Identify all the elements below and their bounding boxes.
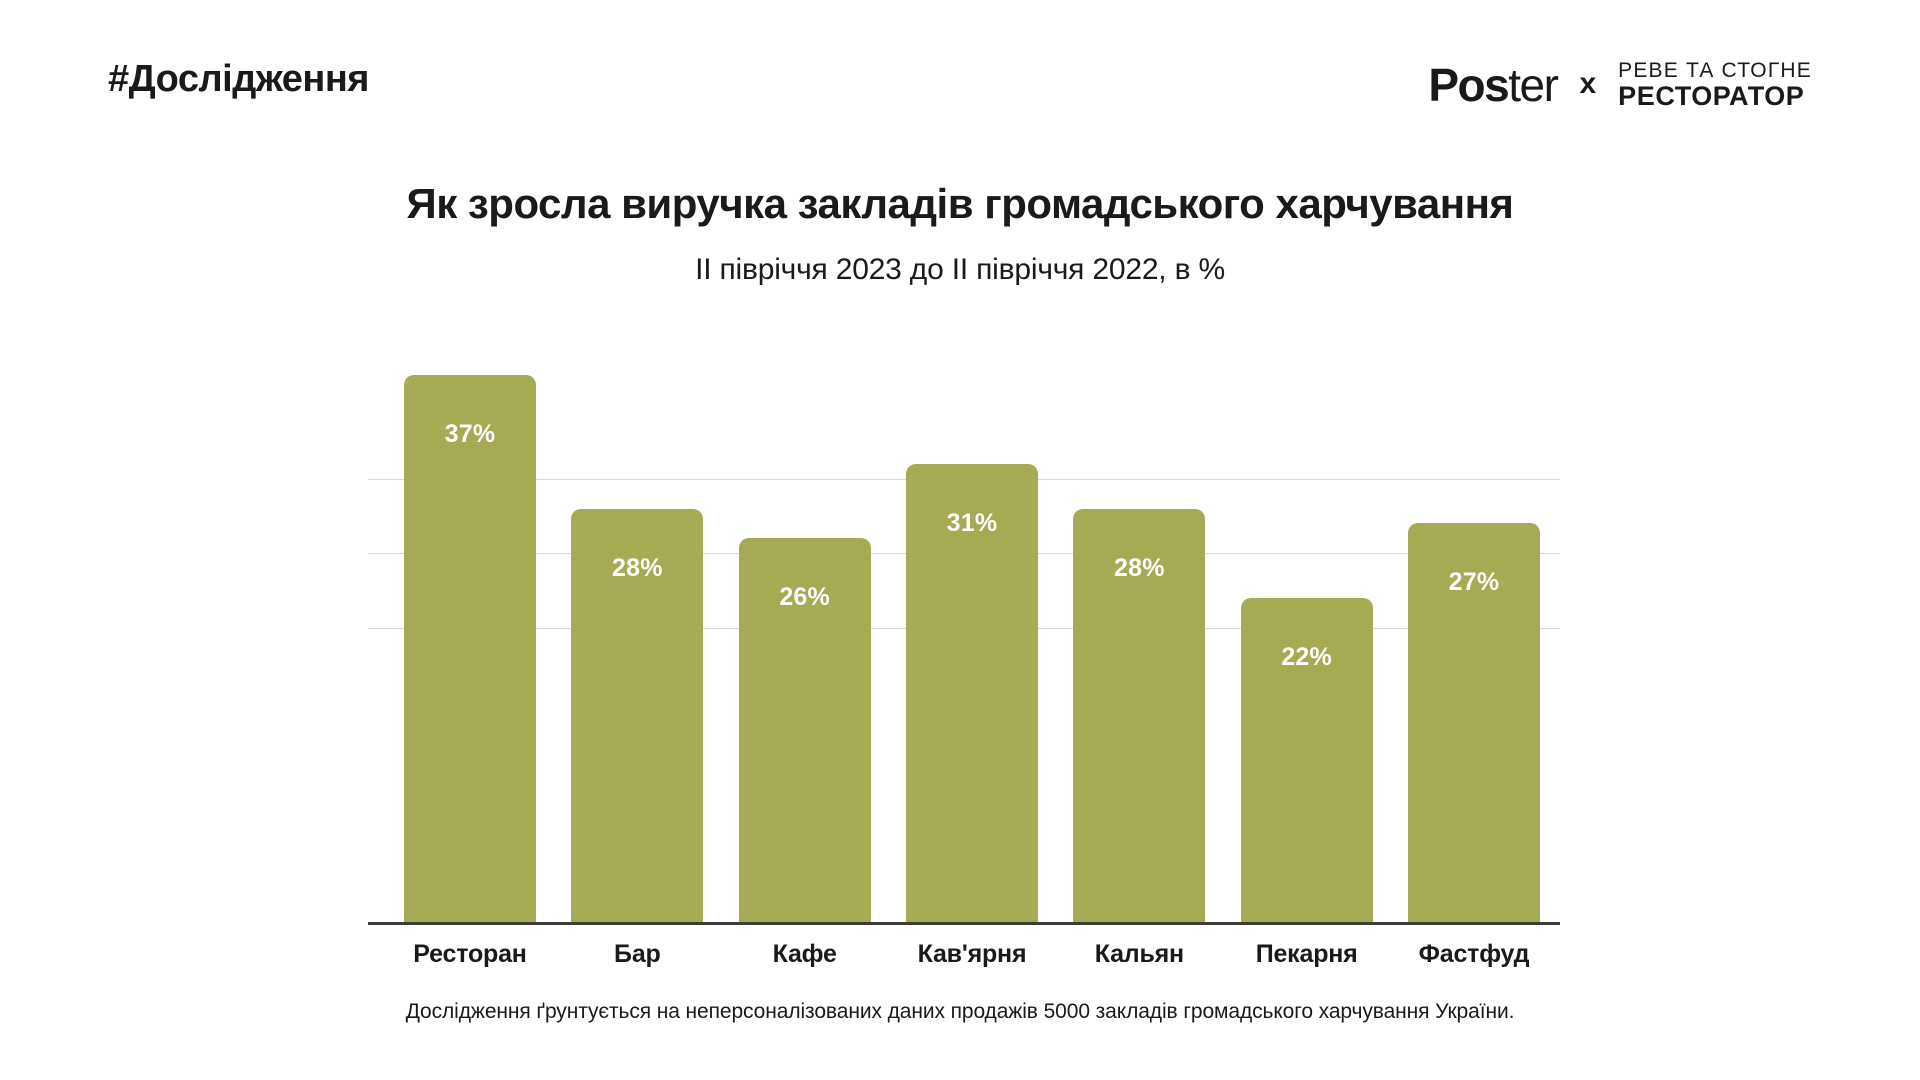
bar-value-label: 22% [1241, 643, 1373, 672]
bar-slot: 28% [571, 330, 703, 925]
category-label: Кальян [1073, 940, 1205, 969]
poster-logo: Poster [1428, 62, 1557, 108]
bar-chart: 37%28%26%31%28%22%27% [368, 330, 1560, 925]
category-label: Кафе [739, 940, 871, 969]
poster-logo-bold: Pos [1428, 59, 1508, 111]
bar-slot: 28% [1073, 330, 1205, 925]
category-label: Фастфуд [1408, 940, 1540, 969]
category-label: Бар [571, 940, 703, 969]
hashtag-label: #Дослідження [108, 58, 369, 101]
partner-logo-line2: РЕСТОРАТОР [1618, 82, 1812, 110]
poster-logo-light: ter [1508, 59, 1557, 111]
methodology-footnote: Дослідження ґрунтується на неперсоналізо… [0, 1000, 1920, 1024]
brand-lockup: Poster x РЕВЕ ТА СТОГНЕ РЕСТОРАТОР [1428, 60, 1812, 110]
bar-slot: 26% [739, 330, 871, 925]
category-label: Кав'ярня [906, 940, 1038, 969]
chart-title: Як зросла виручка закладів громадського … [0, 180, 1920, 228]
infographic-page: #Дослідження Poster x РЕВЕ ТА СТОГНЕ РЕС… [0, 0, 1920, 1080]
bar-value-label: 31% [906, 509, 1038, 538]
collab-x-separator: x [1579, 69, 1596, 102]
bar-slot: 31% [906, 330, 1038, 925]
category-label: Пекарня [1241, 940, 1373, 969]
partner-logo-line1: РЕВЕ ТА СТОГНЕ [1618, 60, 1812, 82]
bar-value-label: 26% [739, 583, 871, 612]
chart-heading-block: Як зросла виручка закладів громадського … [0, 180, 1920, 287]
bar-value-label: 37% [404, 420, 536, 449]
chart-bars: 37%28%26%31%28%22%27% [368, 330, 1560, 925]
bar-slot: 22% [1241, 330, 1373, 925]
bar-value-label: 28% [1073, 554, 1205, 583]
chart-subtitle: II півріччя 2023 до II півріччя 2022, в … [0, 253, 1920, 287]
bar-slot: 37% [404, 330, 536, 925]
bar-value-label: 28% [571, 554, 703, 583]
chart-category-labels: РесторанБарКафеКав'ярняКальянПекарняФаст… [368, 940, 1560, 969]
bar[interactable] [404, 375, 536, 925]
bar-slot: 27% [1408, 330, 1540, 925]
partner-logo: РЕВЕ ТА СТОГНЕ РЕСТОРАТОР [1618, 60, 1812, 110]
chart-x-axis [368, 922, 1560, 925]
page-header: #Дослідження Poster x РЕВЕ ТА СТОГНЕ РЕС… [0, 0, 1920, 150]
category-label: Ресторан [404, 940, 536, 969]
bar-value-label: 27% [1408, 568, 1540, 597]
